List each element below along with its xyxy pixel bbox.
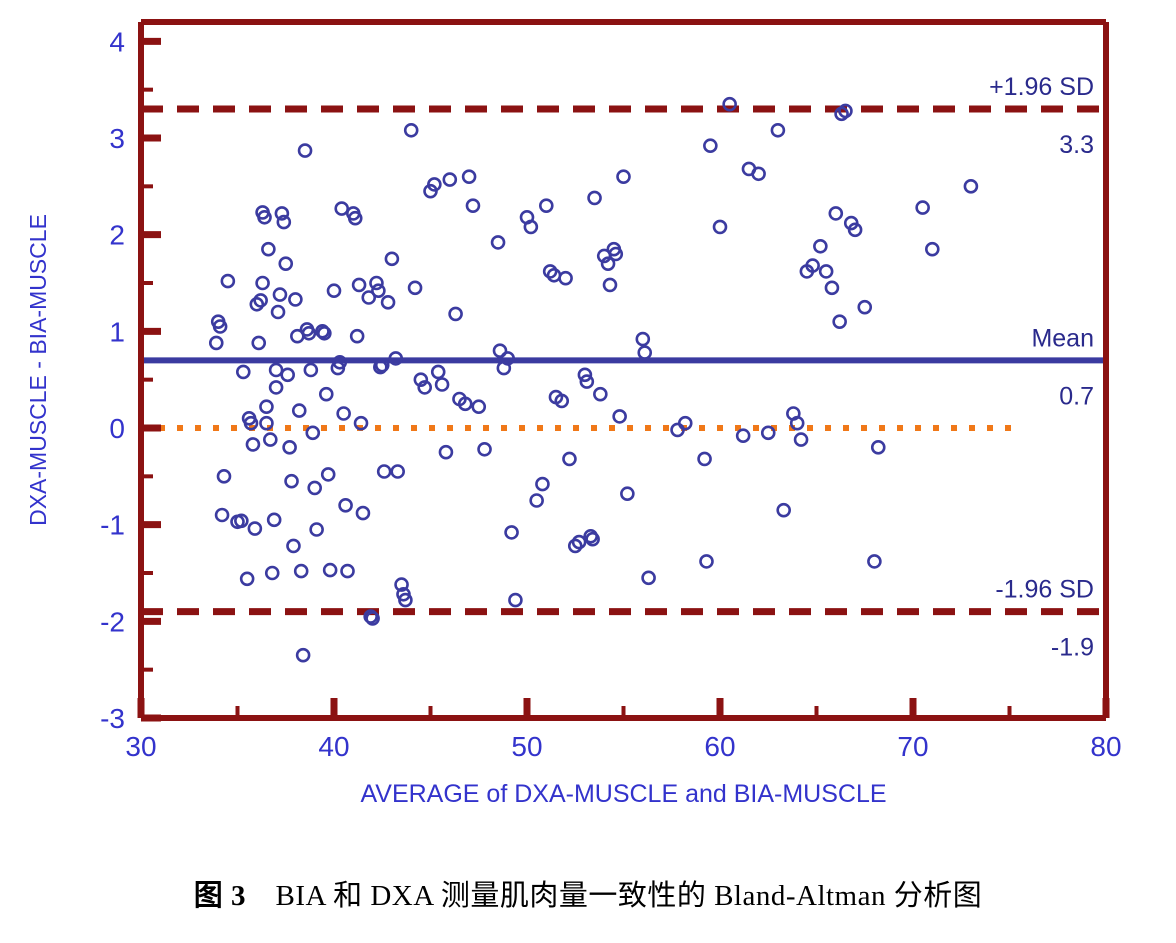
figure-caption-number: 图 3 <box>194 880 246 912</box>
upper-limit-value: 3.3 <box>1059 131 1094 159</box>
figure-caption-wrap: 图 3 BIA 和 DXA 测量肌肉量一致性的 Bland-Altman 分析图 <box>0 845 1176 940</box>
y-tick-label: -2 <box>100 606 125 637</box>
lower-limit-label: -1.96 SD <box>995 576 1094 604</box>
bland-altman-chart: -3-2-101234304050607080AVERAGE of DXA-MU… <box>0 0 1176 840</box>
mean-label: Mean <box>1031 324 1094 352</box>
y-tick-label: -1 <box>100 510 125 541</box>
x-tick-label: 40 <box>318 731 349 762</box>
x-axis-title: AVERAGE of DXA-MUSCLE and BIA-MUSCLE <box>360 780 886 808</box>
figure-caption-gap <box>246 880 276 912</box>
x-tick-label: 50 <box>511 731 542 762</box>
mean-value: 0.7 <box>1059 382 1094 410</box>
figure-caption-text: BIA 和 DXA 测量肌肉量一致性的 Bland-Altman 分析图 <box>276 880 983 912</box>
y-tick-label: 4 <box>109 26 125 57</box>
lower-limit-value: -1.9 <box>1051 634 1094 662</box>
scatter-plot-svg: -3-2-101234304050607080AVERAGE of DXA-MU… <box>0 0 1176 840</box>
y-axis-title: DXA-MUSCLE - BIA-MUSCLE <box>25 214 51 526</box>
y-tick-label: 0 <box>109 413 125 444</box>
figure-root: -3-2-101234304050607080AVERAGE of DXA-MU… <box>0 0 1176 943</box>
y-tick-label: 3 <box>109 123 125 154</box>
x-tick-label: 60 <box>704 731 735 762</box>
upper-limit-label: +1.96 SD <box>989 73 1094 101</box>
y-tick-label: -3 <box>100 703 125 734</box>
y-tick-label: 1 <box>109 316 125 347</box>
x-tick-label: 80 <box>1090 731 1121 762</box>
figure-caption: 图 3 BIA 和 DXA 测量肌肉量一致性的 Bland-Altman 分析图 <box>194 872 983 914</box>
x-tick-label: 30 <box>125 731 156 762</box>
x-tick-label: 70 <box>897 731 928 762</box>
y-tick-label: 2 <box>109 220 125 251</box>
